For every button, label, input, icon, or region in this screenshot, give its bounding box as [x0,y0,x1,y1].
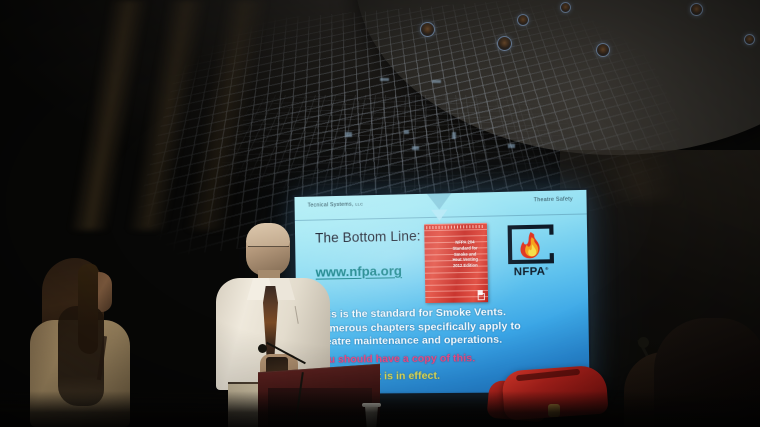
woman-hair-side [78,264,98,354]
ceiling-tile-glint [412,146,419,150]
book-cover-line: 2012 Edition [447,263,483,270]
nfpa-logo: NFPA® [501,221,560,277]
lectern-front-panel [268,388,372,427]
presentation-slide: Tecnical Systems, LLC Theatre Safety The… [294,190,589,394]
ceiling-grille-far [209,95,601,190]
man-bald-crown [246,223,290,247]
coffee-cup-lid [362,403,381,407]
microphone-head-right [638,337,649,348]
ceiling-tile-glint [508,144,515,148]
nfpa-wordmark: NFPA® [502,265,560,278]
downlight-icon [517,14,529,26]
triangle-chevron-icon [426,193,451,210]
nfpa-wordmark-text: NFPA [514,266,546,279]
downlight-icon [560,2,571,13]
downlight-icon [596,43,610,57]
audience-silhouette [654,318,760,427]
downlight-icon [744,34,755,45]
man-glasses [248,246,289,255]
screenshot-root: Tecnical Systems, LLC Theatre Safety The… [0,0,760,427]
downlight-icon [690,3,703,16]
microphone-head-left [258,344,267,353]
downlight-icon [497,36,512,51]
ceiling-tile-glint [380,78,389,81]
company-suffix: LLC [355,202,363,206]
slide-body-line: You should have a copy of this. [316,351,572,367]
downlight-icon [420,22,435,37]
projection-screen: Tecnical Systems, LLC Theatre Safety The… [294,190,589,394]
slide-header-topic: Theatre Safety [534,196,573,203]
ceiling-tile-glint [345,132,352,137]
book-cover-text: NFPA 204Standard forSmoke andHeat Ventin… [447,239,483,269]
ceiling-tile-glint [404,130,409,134]
ceiling-tile-glint [452,132,456,139]
book-cover-square [478,293,485,300]
bag-clip [548,404,560,417]
triangle-chevron-inner-icon [431,209,448,221]
slide-body-line: theatre maintenance and operations. [316,333,572,350]
slide-header-company: Tecnical Systems, LLC [308,201,364,208]
attendee-woman [28,258,132,427]
ceiling-tile-glint [432,80,441,83]
nfpa-204-book-cover: NFPA 204Standard forSmoke andHeat Ventin… [424,223,488,303]
company-name: Tecnical Systems, [308,202,354,209]
registered-mark: ® [545,266,548,271]
nfpa-bracket-flame-icon [501,221,560,267]
